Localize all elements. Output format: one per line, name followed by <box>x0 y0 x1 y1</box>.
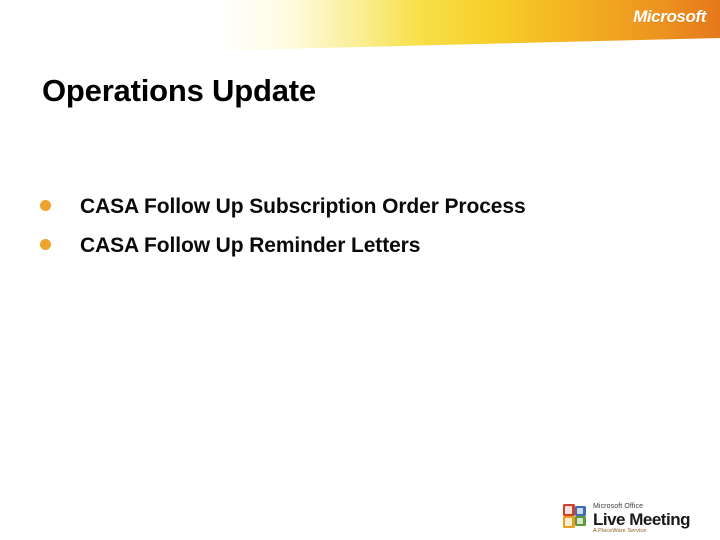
live-meeting-logo: Microsoft Office Live Meeting A PlaceWar… <box>562 503 690 535</box>
office-squares-icon <box>562 503 589 529</box>
slide-header-banner: Microsoft <box>0 0 720 56</box>
slide-body-bullet-list: CASA Follow Up Subscription Order Proces… <box>40 192 600 269</box>
banner-gradient-shape <box>0 0 720 56</box>
live-meeting-tagline: A PlaceWare Service <box>593 528 690 535</box>
list-item-label: CASA Follow Up Subscription Order Proces… <box>80 192 600 223</box>
list-item: CASA Follow Up Reminder Letters <box>40 231 600 262</box>
slide-title: Operations Update <box>42 73 316 109</box>
list-item-label: CASA Follow Up Reminder Letters <box>80 231 600 262</box>
live-meeting-wordmark: Live Meeting <box>593 511 690 528</box>
microsoft-wordmark-logo: Microsoft <box>633 7 706 27</box>
bullet-dot-icon <box>40 200 51 211</box>
live-meeting-text-block: Microsoft Office Live Meeting A PlaceWar… <box>593 503 690 535</box>
list-item: CASA Follow Up Subscription Order Proces… <box>40 192 600 223</box>
presentation-slide: Microsoft Operations Update CASA Follow … <box>0 0 720 540</box>
bullet-dot-icon <box>40 239 51 250</box>
